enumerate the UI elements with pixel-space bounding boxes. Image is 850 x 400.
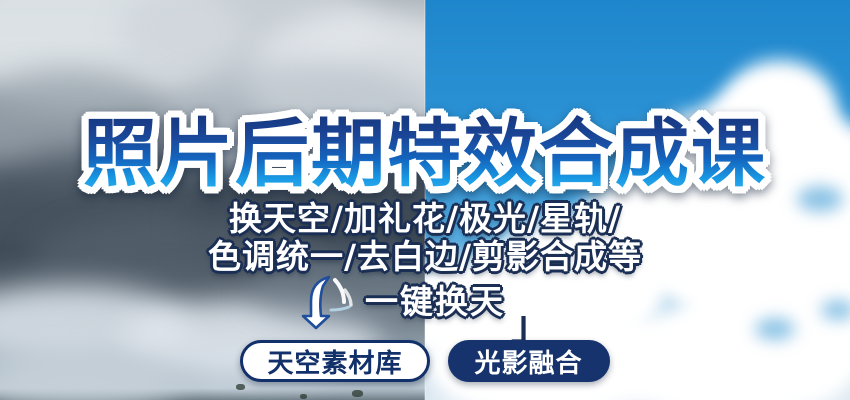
banner-subtitle-line-1: 换天空/加礼花/极光/星轨/: [0, 200, 850, 238]
one-key-sky-swap-label: 一键换天: [365, 282, 505, 322]
banner-title: 照片后期特效合成课: [0, 112, 850, 196]
banner-content: 照片后期特效合成课 换天空/加礼花/极光/星轨/ 色调统一/去白边/剪影合成等 …: [0, 0, 850, 400]
badge-light-shadow-blending[interactable]: 光影融合: [448, 340, 610, 382]
badge-label: 天空素材库: [267, 343, 402, 380]
badge-label: 光影融合: [475, 343, 583, 380]
feature-badge-group: 天空素材库 光影融合: [0, 338, 850, 384]
sky-replacement-course-banner: 照片后期特效合成课 换天空/加礼花/极光/星轨/ 色调统一/去白边/剪影合成等 …: [0, 0, 850, 400]
badge-sky-asset-library[interactable]: 天空素材库: [240, 340, 429, 382]
banner-subtitle-line-2: 色调统一/去白边/剪影合成等: [0, 238, 850, 276]
one-key-sky-swap-row: 一键换天 」: [0, 274, 850, 330]
curved-down-arrow-icon: [299, 274, 361, 330]
